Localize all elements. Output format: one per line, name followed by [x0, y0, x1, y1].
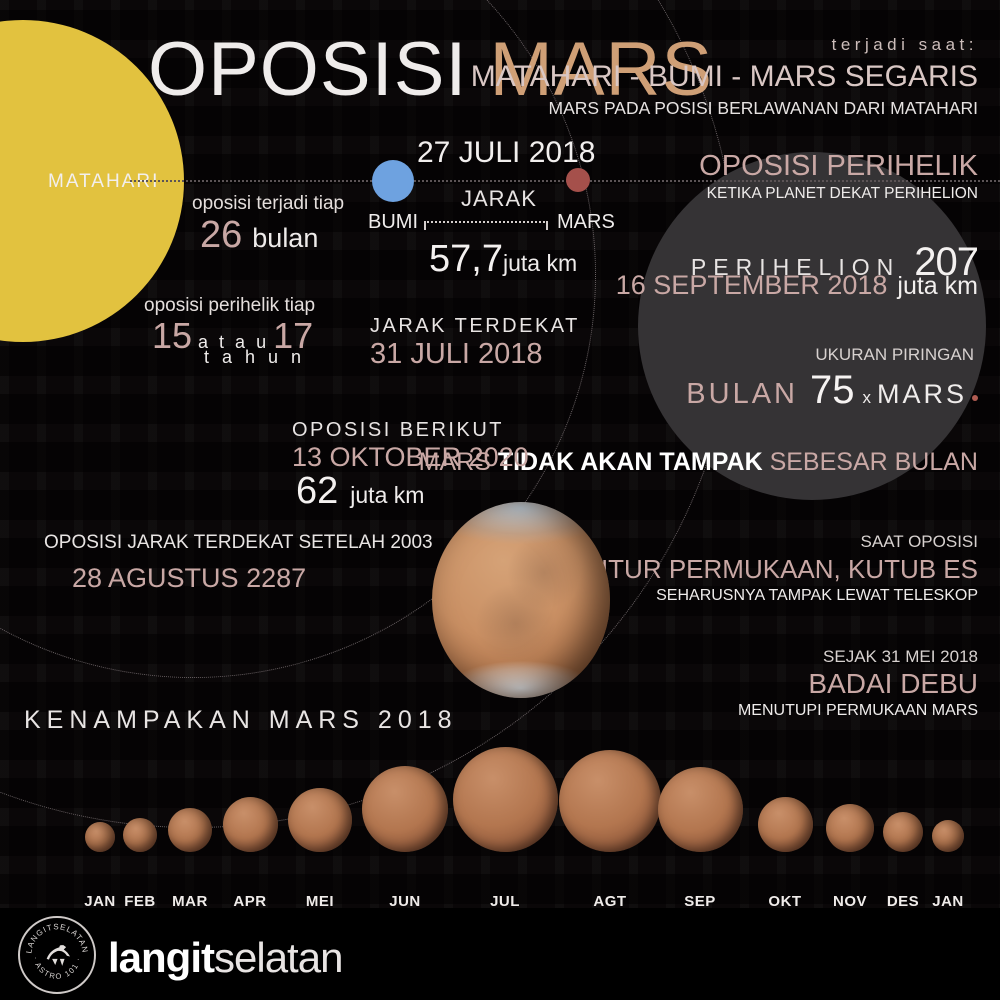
oposisi-perihelik-heading: OPOSISI PERIHELIK [699, 152, 978, 181]
mars-label: MARS [557, 212, 615, 232]
distance-measure-line [424, 221, 548, 230]
perihelik-tahun-unit: t a h u n [204, 348, 305, 366]
month-column: JAN [908, 760, 988, 910]
perihelion-unit: juta km [897, 272, 978, 300]
oposisi-tiap-label: oposisi terjadi tiap [192, 194, 344, 213]
distance-value: 57,7 [429, 238, 503, 280]
oposisi-berikut-unit: juta km [350, 482, 424, 508]
badai-debu-heading: BADAI DEBU [808, 670, 978, 698]
seharusnya-teleskop-subtext: SEHARUSNYA TAMPAK LEWAT TELESKOP [656, 588, 978, 604]
statement-part-3: SEBESAR BULAN [770, 448, 978, 476]
distance-unit: juta km [503, 250, 577, 276]
opposition-date: 27 JULI 2018 [417, 138, 595, 168]
mars-disc-okt-9 [758, 797, 813, 852]
bulan-label: BULAN [686, 378, 798, 410]
mars-disc-apr-3 [223, 797, 278, 852]
jarak-label: JARAK [461, 188, 537, 210]
distance-row: 57,7juta km [429, 240, 577, 278]
mars-label-scale: MARS [877, 379, 967, 409]
month-column: MEI [280, 760, 360, 910]
perihelion-date: 16 SEPTEMBER 2018 [616, 270, 888, 300]
statement-part-2: TIDAK AKAN TAMPAK [498, 448, 770, 476]
saat-oposisi-label: SAAT OPOSISI [861, 533, 978, 550]
jarak-terdekat-date: 31 JULI 2018 [370, 340, 543, 369]
perihelik-tiap-label: oposisi perihelik tiap [144, 296, 315, 315]
mars-disc-agt-7 [559, 750, 661, 852]
mars-scale-dot-icon [972, 395, 978, 401]
month-column: AGT [570, 760, 650, 910]
ukuran-comparison-row: BULAN75xMARS [686, 370, 978, 410]
month-column: JUN [365, 760, 445, 910]
sejak-mei-label: SEJAK 31 MEI 2018 [823, 648, 978, 665]
month-column: APR [210, 760, 290, 910]
terdekat-setelah-label: OPOSISI JARAK TERDEKAT SETELAH 2003 [44, 533, 433, 552]
mars-disc-mei-4 [288, 788, 352, 852]
ketika-perihelion-subtext: KETIKA PLANET DEKAT PERIHELION [707, 186, 978, 202]
footer: LANGITSELATAN · ASTRO 101 · langitselata… [0, 908, 1000, 1000]
jarak-terdekat-label: JARAK TERDEKAT [370, 316, 580, 336]
ukuran-piringan-label: UKURAN PIRINGAN [815, 346, 974, 363]
oposisi-tiap-unit: bulan [252, 223, 318, 253]
brand-wordmark: langitselatan [108, 934, 342, 982]
earth-disc [372, 160, 414, 202]
mars-size-chart: JANFEBMARAPRMEIJUNJULAGTSEPOKTNOVDESJAN [0, 760, 1000, 910]
mars-disc-sep-8 [658, 767, 743, 852]
title-part-oposisi: OPOSISI [148, 27, 468, 112]
fitur-permukaan-heading: FITUR PERMUKAAN, KUTUB ES [585, 556, 978, 582]
segaris-heading: MATAHARI - BUMI - MARS SEGARIS [471, 62, 978, 92]
mars-disc-jul-6 [453, 747, 558, 852]
oposisi-berikut-label: OPOSISI BERIKUT [292, 420, 504, 440]
oposisi-berikut-row: 62juta km [296, 472, 424, 510]
berlawanan-subtext: MARS PADA POSISI BERLAWANAN DARI MATAHAR… [549, 100, 978, 118]
mars-disc [566, 168, 590, 192]
earth-label: BUMI [368, 212, 418, 232]
menutupi-permukaan-subtext: MENUTUPI PERMUKAAN MARS [738, 703, 978, 719]
times-symbol: x [862, 388, 871, 407]
mars-disc-mar-2 [168, 808, 212, 852]
mars-globe-image [432, 502, 610, 698]
perihelion-date-row: 16 SEPTEMBER 2018juta km [616, 272, 978, 299]
oposisi-tiap-value: 26 [200, 214, 242, 256]
kenampakan-title: KENAMPAKAN MARS 2018 [24, 708, 458, 733]
month-column: JUL [465, 760, 545, 910]
terdekat-setelah-date: 28 AGUSTUS 2287 [72, 565, 306, 592]
oposisi-tiap-row: 26bulan [200, 216, 318, 254]
oposisi-berikut-date: 13 OKTOBER 2020 [292, 444, 529, 471]
mars-disc-jun-5 [362, 766, 448, 852]
month-column: SEP [660, 760, 740, 910]
langitselatan-logo-icon: LANGITSELATAN · ASTRO 101 · [18, 916, 96, 994]
oposisi-berikut-value: 62 [296, 470, 338, 512]
terjadi-saat-label: terjadi saat: [832, 36, 978, 53]
mars-disc-jan-12 [932, 820, 964, 852]
brand-part-2: selatan [214, 934, 342, 981]
brand-part-1: langit [108, 934, 214, 981]
perihelik-value-1: 15 [152, 315, 192, 356]
ukuran-factor: 75 [810, 368, 855, 412]
infographic-poster: MATAHARI OPOSISIMARS terjadi saat: MATAH… [0, 0, 1000, 1000]
